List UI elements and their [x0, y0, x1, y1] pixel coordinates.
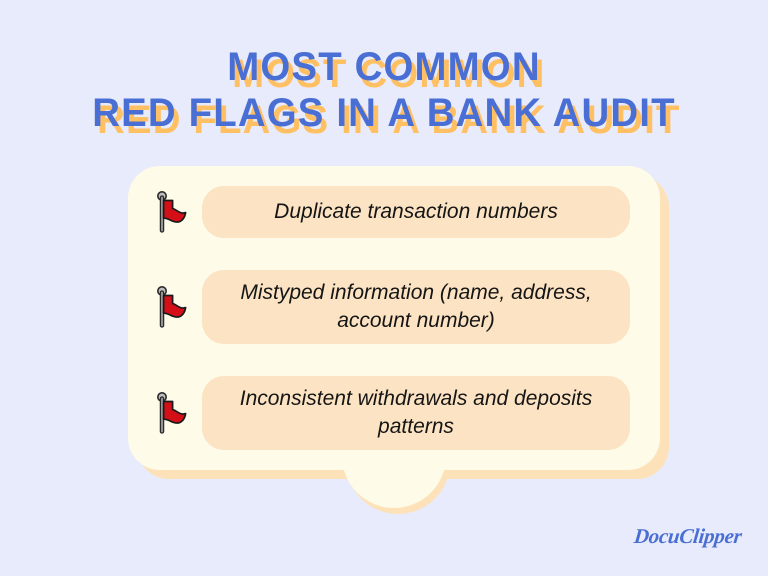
red-flags-list: Duplicate transaction numbers Mistyped i… — [128, 166, 660, 470]
red-flag-icon — [154, 191, 188, 233]
list-item-label: Duplicate transaction numbers — [274, 198, 558, 226]
title-line-1: MOST COMMON — [15, 44, 752, 90]
infographic-canvas: MOST COMMON RED FLAGS IN A BANK AUDIT Du… — [0, 0, 768, 576]
list-item: Mistyped information (name, address, acc… — [154, 270, 630, 344]
docuclipper-logo: DocuClipper — [633, 524, 743, 549]
list-item-pill: Mistyped information (name, address, acc… — [202, 270, 630, 344]
list-item-pill: Duplicate transaction numbers — [202, 186, 630, 238]
list-item-label: Mistyped information (name, address, acc… — [218, 279, 614, 335]
page-title: MOST COMMON RED FLAGS IN A BANK AUDIT — [0, 44, 768, 136]
title-line-2: RED FLAGS IN A BANK AUDIT — [15, 90, 752, 136]
red-flag-icon — [154, 286, 188, 328]
list-item-label: Inconsistent withdrawals and deposits pa… — [218, 385, 614, 441]
list-item-pill: Inconsistent withdrawals and deposits pa… — [202, 376, 630, 450]
content-card: Duplicate transaction numbers Mistyped i… — [128, 166, 660, 470]
list-item: Inconsistent withdrawals and deposits pa… — [154, 376, 630, 450]
list-item: Duplicate transaction numbers — [154, 186, 630, 238]
red-flag-icon — [154, 392, 188, 434]
